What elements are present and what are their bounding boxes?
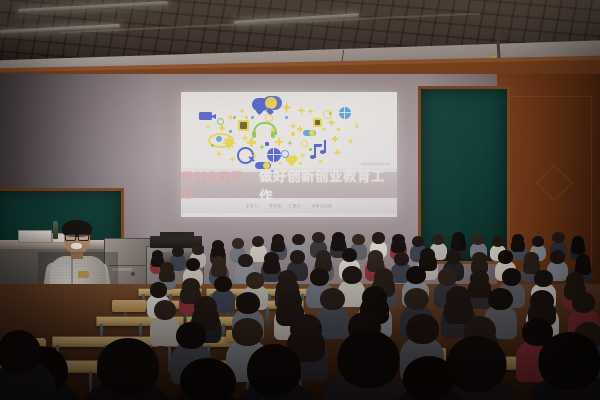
- foreground-head: [402, 355, 456, 400]
- audience-head: [534, 270, 553, 287]
- audience-head: [572, 292, 595, 313]
- lectern-handle: [131, 272, 135, 276]
- audience-head: [438, 268, 457, 286]
- ring-icon: [281, 150, 289, 158]
- audience-head: [172, 246, 184, 257]
- audience-head: [406, 266, 426, 284]
- square-icon: [240, 122, 247, 129]
- audience-head: [236, 292, 260, 314]
- audience-head: [186, 258, 200, 271]
- audience-head: [404, 288, 429, 310]
- audience-head: [316, 250, 331, 264]
- slide-subtitle-part: 创新创业部: [312, 204, 332, 209]
- foreground-audience-member: [333, 328, 401, 400]
- audience-head: [150, 282, 167, 298]
- audience-head: [160, 262, 174, 274]
- audience-head: [406, 314, 439, 344]
- audience-head: [566, 272, 584, 289]
- foreground-audience-member: [246, 343, 304, 400]
- audience-head: [192, 244, 204, 255]
- audience-head: [576, 254, 590, 267]
- audience-head: [342, 248, 357, 262]
- foreground-head: [179, 356, 238, 400]
- audience-head: [194, 296, 217, 317]
- audience-head: [290, 250, 305, 264]
- audience-head: [502, 268, 521, 286]
- audience-head: [446, 250, 461, 264]
- chair-back: [112, 300, 146, 312]
- audience-head: [362, 286, 387, 309]
- square-icon: [229, 130, 232, 133]
- audience-head: [498, 250, 513, 264]
- square-icon: [251, 116, 254, 119]
- audience-head: [246, 272, 264, 289]
- audience-head: [278, 290, 302, 312]
- audience-head: [232, 318, 263, 346]
- audience-head: [154, 300, 176, 320]
- audience-head: [368, 250, 383, 264]
- audience-head: [488, 288, 513, 310]
- glasses-icon: [65, 234, 89, 239]
- audience-head: [352, 234, 365, 245]
- audience-head: [394, 252, 409, 266]
- dot-icon: [233, 116, 236, 119]
- audience-head: [212, 240, 224, 251]
- square-icon: [265, 142, 269, 146]
- slide-title-row: 用创业的思维 做好创新创业教育工作: [181, 172, 397, 198]
- music-note-head: [320, 150, 325, 154]
- plus-icon: [334, 136, 336, 142]
- audience-head: [290, 314, 322, 343]
- dot-icon: [319, 160, 322, 163]
- slide-artwork-area: 创新创业教育研究中心: [181, 92, 397, 168]
- audience-head: [470, 270, 489, 287]
- square-icon: [309, 148, 312, 151]
- square-icon: [291, 132, 295, 136]
- audience-head: [278, 270, 297, 287]
- audience-head: [292, 234, 305, 245]
- projected-slide: 创新创业教育研究中心 用创业的思维 做好创新创业教育工作 主讲人：李克强汇报人：…: [181, 92, 397, 217]
- audience-head: [342, 266, 362, 284]
- plus-icon: [250, 138, 253, 147]
- audience-head: [182, 278, 200, 294]
- presenter-mouth: [71, 243, 82, 249]
- dot-icon: [211, 144, 214, 147]
- headphone-ear-icon: [252, 131, 256, 138]
- dot-icon: [285, 116, 288, 119]
- music-note-head: [310, 155, 315, 159]
- wifi-icon: [347, 123, 357, 133]
- foreground-head: [96, 337, 160, 397]
- audience-head: [320, 288, 345, 310]
- audience-head: [312, 232, 325, 243]
- foreground-audience-member: [94, 337, 160, 400]
- audience-head: [492, 236, 504, 247]
- slide-subtitle-part: 李克强: [269, 204, 281, 209]
- audience-head: [420, 248, 435, 262]
- plus-icon: [299, 126, 301, 132]
- audience-head: [550, 250, 565, 264]
- audience-head: [310, 268, 329, 286]
- slide-icon-cluster: [181, 92, 397, 168]
- audience-head: [372, 232, 385, 244]
- bubble-dot-icon: [265, 97, 277, 109]
- plus-icon: [278, 138, 281, 146]
- audience-head: [446, 286, 471, 309]
- audience-head: [572, 236, 584, 247]
- ring-icon: [323, 110, 332, 119]
- capsule-cap: [309, 130, 315, 136]
- square-icon: [315, 120, 320, 125]
- globe-line: [344, 107, 345, 119]
- globe-line: [273, 148, 274, 162]
- audience-head: [264, 252, 279, 265]
- audience-head: [332, 232, 345, 244]
- lecture-hall-photo: 创新创业教育研究中心 用创业的思维 做好创新创业教育工作 主讲人：李克强汇报人：…: [0, 0, 600, 400]
- audience-head: [532, 236, 544, 247]
- slide-subtitle-row: 主讲人：李克强汇报人：创新创业部: [181, 200, 397, 213]
- audience-head: [392, 234, 405, 245]
- audience-head: [524, 252, 539, 265]
- slide-subtitle-part: 主讲人：: [246, 204, 262, 209]
- foreground-audience-member: [174, 356, 237, 400]
- audience-head: [452, 232, 465, 243]
- audience-head: [214, 276, 232, 292]
- ring-icon: [217, 118, 224, 125]
- slide-title-white: 做好创新创业教育工作: [259, 165, 397, 205]
- eye-pupil: [216, 136, 222, 142]
- audience-head: [552, 232, 565, 243]
- square-icon: [337, 128, 340, 131]
- slide-title-pink: 用创业的思维: [181, 168, 255, 202]
- foreground-audience-member: [402, 355, 458, 400]
- video-camera-icon: [199, 112, 212, 120]
- av-equipment-upper: [160, 232, 194, 238]
- foreground-audience-member: [537, 330, 600, 400]
- name-badge: [78, 271, 89, 278]
- dot-icon: [245, 116, 248, 119]
- audience-head: [530, 290, 554, 312]
- music-note-flag: [313, 144, 322, 147]
- audience-head: [212, 256, 226, 269]
- foreground-head: [537, 330, 600, 391]
- audience-head: [472, 252, 487, 265]
- foreground-head: [246, 343, 302, 397]
- audience-head: [238, 254, 253, 267]
- headphone-ear-icon: [271, 131, 275, 138]
- ring-icon: [265, 114, 273, 122]
- audience-head: [176, 322, 206, 349]
- ring-icon: [301, 140, 308, 147]
- audience-head: [374, 268, 393, 286]
- audience-head: [232, 238, 244, 249]
- slide-subtitle-part: 汇报人：: [288, 204, 304, 209]
- plus-icon: [221, 125, 223, 131]
